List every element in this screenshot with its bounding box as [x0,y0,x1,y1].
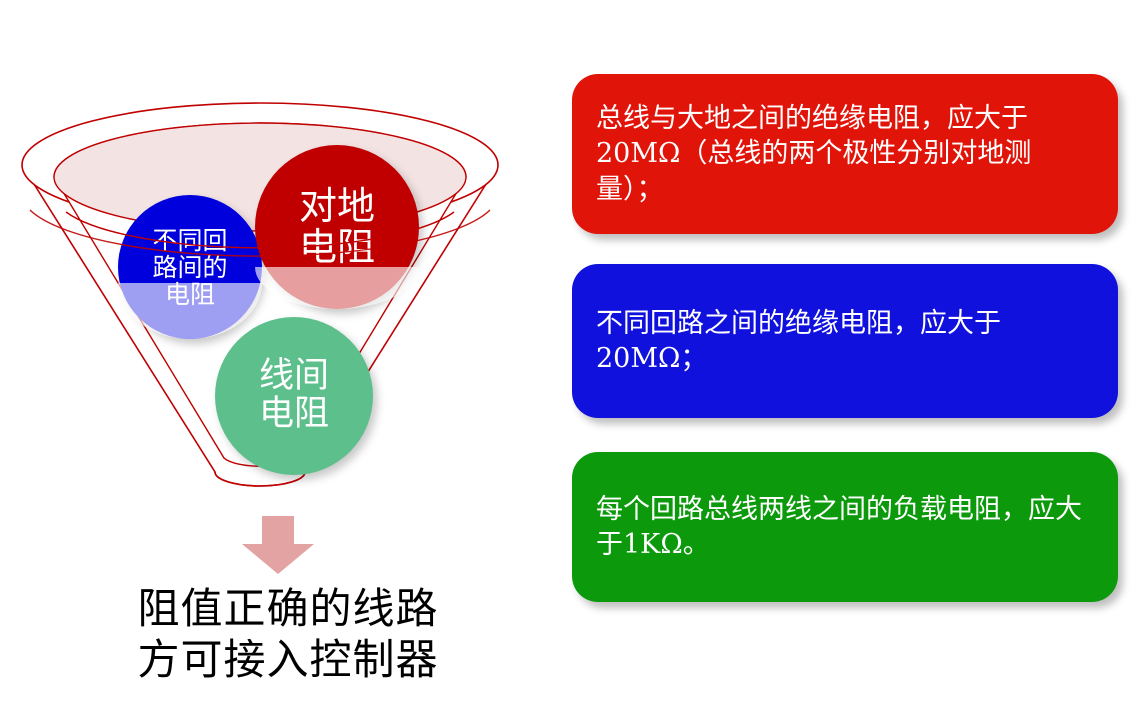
bubble-inter-loop-resistance[interactable]: 不同回 路间的 电阻 [118,195,262,339]
callout-loop-text: 不同回路之间的绝缘电阻，应大于20MΩ； [596,306,1096,376]
callout-ground-insulation[interactable]: 总线与大地之间的绝缘电阻，应大于20MΩ（总线的两个极性分别对地测量）； [572,74,1118,234]
bubble-line-line-1: 线间 [259,358,329,396]
callout-load-resistance[interactable]: 每个回路总线两线之间的负载电阻，应大于1KΩ。 [572,452,1118,602]
bubble-loop-line-3: 电阻 [165,281,215,308]
caption-line-1: 阻值正确的线路 [58,583,518,634]
funnel-diagram: 对地 电阻 不同回 路间的 电阻 线间 电阻 [0,90,540,530]
callout-inter-loop-insulation[interactable]: 不同回路之间的绝缘电阻，应大于20MΩ； [572,264,1118,418]
bubble-ground-line-1: 对地 [299,186,375,227]
caption-line-2: 方可接入控制器 [58,634,518,685]
conclusion-caption: 阻值正确的线路 方可接入控制器 [58,583,518,685]
bubble-line-line-2: 电阻 [259,396,329,434]
bubble-ground-line-2: 电阻 [299,227,375,268]
arrow-down-icon [238,516,318,576]
bubble-ground-resistance[interactable]: 对地 电阻 [255,145,419,309]
bubble-loop-line-2: 路间的 [152,254,227,281]
bubble-line-to-line-resistance[interactable]: 线间 电阻 [215,317,373,475]
bubble-loop-line-1: 不同回 [152,227,227,254]
callout-line-text: 每个回路总线两线之间的负载电阻，应大于1KΩ。 [596,492,1096,562]
callout-ground-text: 总线与大地之间的绝缘电阻，应大于20MΩ（总线的两个极性分别对地测量）； [596,101,1096,206]
